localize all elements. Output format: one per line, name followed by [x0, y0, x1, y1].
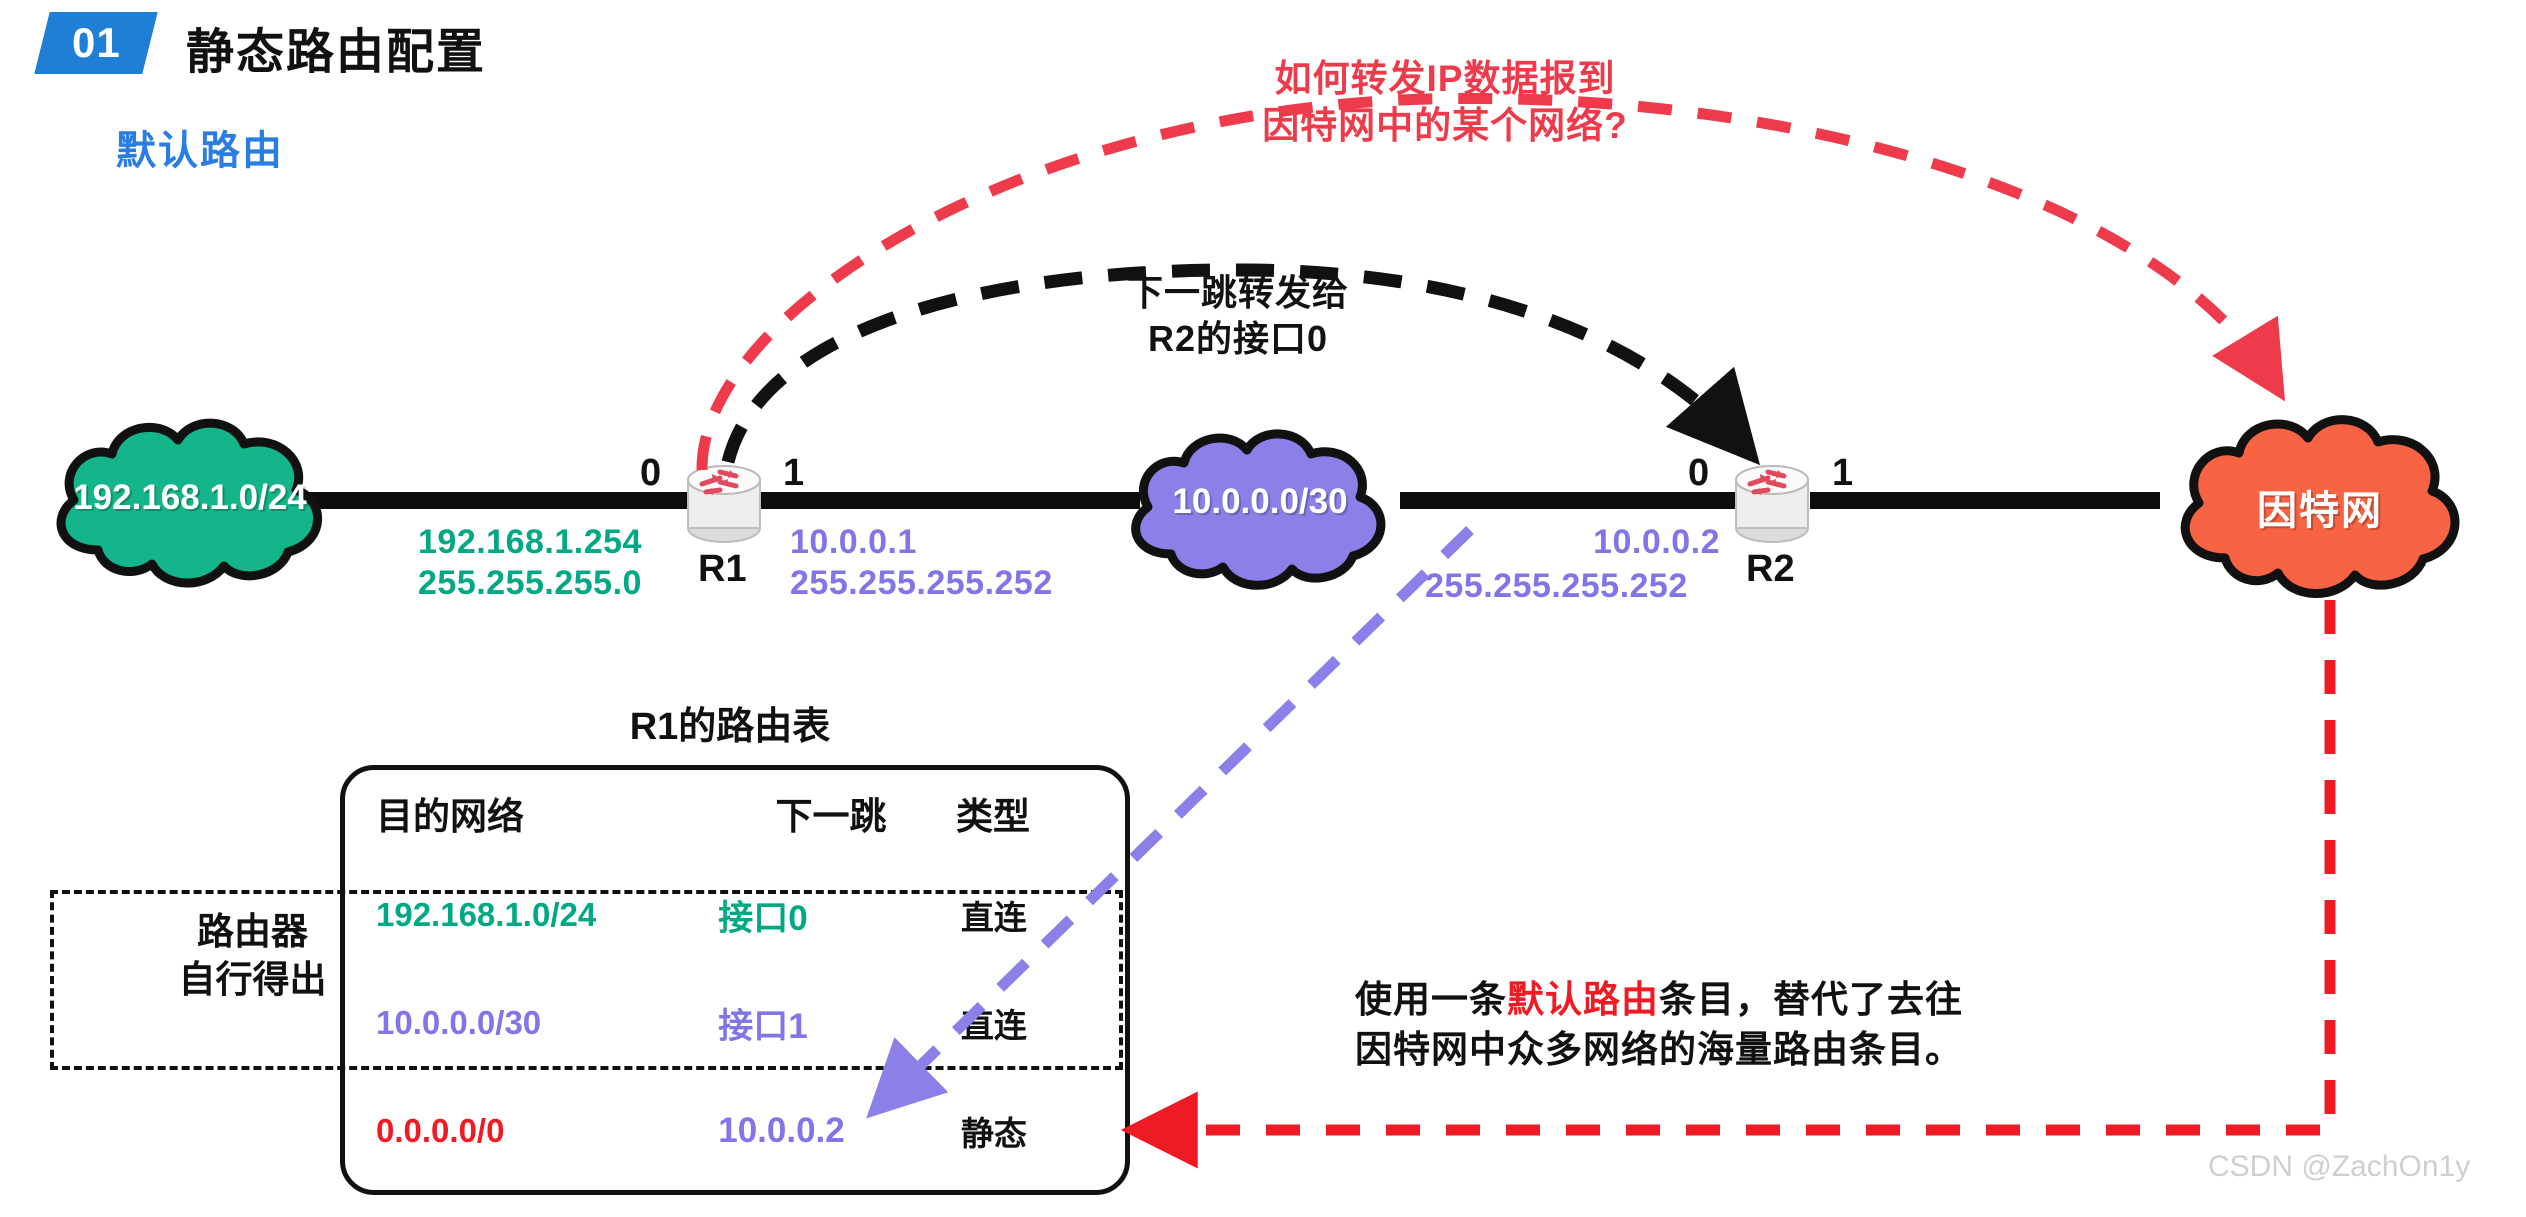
section-number-badge: 01 — [34, 12, 157, 74]
r2-if0-mask-label: 255.255.255.252 — [1425, 566, 1688, 607]
section-number-text: 01 — [72, 19, 121, 67]
lan-cloud-label: 192.168.1.0/24 — [30, 478, 350, 518]
page-subtitle: 默认路由 — [116, 118, 284, 176]
next-hop-line-2: R2的接口0 — [1078, 316, 1398, 362]
watermark: CSDN @ZachOn1y — [2208, 1150, 2470, 1184]
r2-port-0-label: 0 — [1688, 452, 1709, 495]
question-line-1: 如何转发IP数据报到 — [1210, 55, 1680, 102]
header-next-hop: 下一跳 — [706, 765, 956, 861]
red-forward-arrow — [702, 98, 2275, 470]
header-type: 类型 — [956, 765, 1120, 861]
r2-name-label: R2 — [1746, 548, 1795, 591]
row-2-dest: 0.0.0.0/0 — [340, 1077, 696, 1185]
r1-if0-ip: 192.168.1.254 — [418, 522, 642, 563]
note-mid: 条目，替代了去往 — [1659, 979, 1963, 1020]
page-title: 静态路由配置 — [186, 12, 486, 82]
default-route-note-line-1: 使用一条默认路由条目，替代了去往 — [1355, 975, 2315, 1025]
header-dest-network: 目的网络 — [340, 765, 706, 861]
next-hop-annotation: 下一跳转发给 R2的接口0 — [1078, 270, 1398, 362]
r2-port-1-label: 1 — [1832, 452, 1853, 495]
routing-table-caption: R1的路由表 — [340, 695, 1120, 750]
wan-cloud-label: 10.0.0.0/30 — [1105, 482, 1415, 522]
wan-cloud: 10.0.0.0/30 — [1105, 412, 1415, 598]
router-icon — [680, 450, 768, 550]
r1-if1-address-label: 10.0.0.1 255.255.255.252 — [790, 522, 1053, 605]
lan-cloud: 192.168.1.0/24 — [30, 400, 350, 600]
r1-if0-mask: 255.255.255.0 — [418, 563, 642, 604]
derived-routes-line-1: 路由器 — [80, 908, 425, 956]
router-r2 — [1728, 450, 1816, 550]
r2-if0-address-label: 10.0.0.2 — [1590, 522, 1720, 563]
internet-cloud-label: 因特网 — [2155, 478, 2485, 536]
row-2-next-hop: 10.0.0.2 — [696, 1077, 961, 1185]
table-row: 0.0.0.0/0 10.0.0.2 静态 — [340, 1077, 1120, 1185]
r1-port-0-label: 0 — [640, 452, 661, 495]
next-hop-line-1: 下一跳转发给 — [1078, 270, 1398, 316]
default-route-note: 使用一条默认路由条目，替代了去往 因特网中众多网络的海量路由条目。 — [1355, 975, 2315, 1075]
question-annotation: 如何转发IP数据报到 因特网中的某个网络? — [1210, 55, 1680, 150]
routing-table-header-row: 目的网络 下一跳 类型 — [340, 765, 1120, 861]
internet-cloud: 因特网 — [2155, 390, 2485, 610]
question-line-2: 因特网中的某个网络? — [1210, 102, 1680, 149]
r1-port-1-label: 1 — [783, 452, 804, 495]
note-highlight: 默认路由 — [1507, 979, 1659, 1020]
derived-routes-line-2: 自行得出 — [80, 956, 425, 1004]
row-2-type: 静态 — [961, 1077, 1120, 1185]
r1-if0-address-label: 192.168.1.254 255.255.255.0 — [418, 522, 642, 605]
r1-if1-ip: 10.0.0.1 — [790, 522, 1053, 563]
r1-name-label: R1 — [698, 548, 747, 591]
r2-if0-ip: 10.0.0.2 — [1590, 522, 1720, 563]
note-pre: 使用一条 — [1355, 979, 1507, 1020]
derived-routes-label: 路由器 自行得出 — [80, 908, 425, 1004]
router-r1 — [680, 450, 768, 550]
link-r2-to-internet — [1810, 492, 2160, 509]
router-icon — [1728, 450, 1816, 550]
r1-if1-mask: 255.255.255.252 — [790, 563, 1053, 604]
default-route-note-line-2: 因特网中众多网络的海量路由条目。 — [1355, 1025, 2315, 1075]
